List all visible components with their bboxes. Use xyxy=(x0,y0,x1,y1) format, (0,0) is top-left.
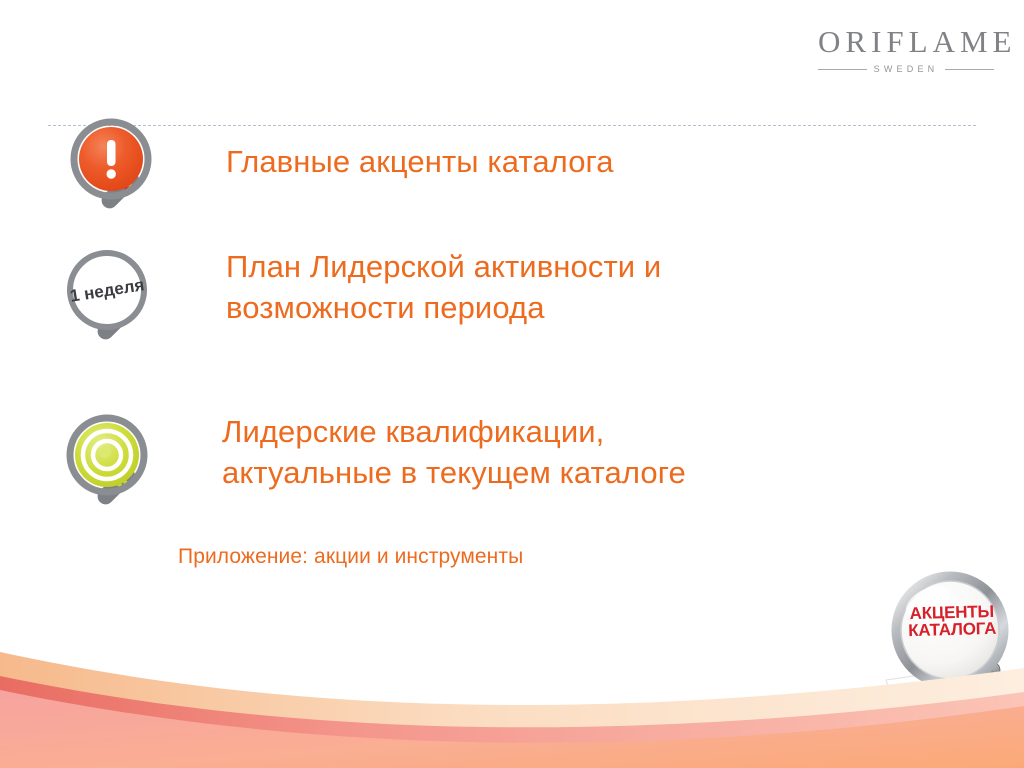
magnifier-target-icon xyxy=(58,408,170,520)
agenda-item-appendix-label: Приложение: акции и инструменты xyxy=(178,543,523,571)
agenda-item-highlights-label: Главные акценты каталога xyxy=(226,142,614,183)
slide-canvas: ORIFLAME SWEDEN xyxy=(0,0,1024,768)
logo-rule-left xyxy=(818,69,867,70)
agenda-item-leader-plan[interactable]: 1 неделя План Лидерской активности и воз… xyxy=(58,243,661,355)
agenda-item-leader-plan-label: План Лидерской активности и возможности … xyxy=(226,247,661,329)
logo-rule-right xyxy=(945,69,994,70)
magnifier-exclamation-icon xyxy=(62,112,174,224)
catalogue-highlights-stamp: АКЦЕНТЫ КАТАЛОГА xyxy=(884,568,1024,708)
logo-subline: SWEDEN xyxy=(818,64,994,74)
logo-country-label: SWEDEN xyxy=(874,64,939,74)
agenda-item-highlights[interactable]: Главные акценты каталога xyxy=(62,112,614,224)
divider-bottom-dashed xyxy=(100,705,948,706)
agenda-item-qualifications-label: Лидерские квалификации, актуальные в тек… xyxy=(222,412,686,494)
agenda-item-qualifications[interactable]: Лидерские квалификации, актуальные в тек… xyxy=(58,408,686,520)
magnifier-one-week-icon: 1 неделя xyxy=(58,243,170,355)
catalogue-highlights-stamp-label: АКЦЕНТЫ КАТАЛОГА xyxy=(900,603,1005,640)
bottom-wave-decoration xyxy=(0,628,1024,768)
agenda-item-appendix[interactable]: Приложение: акции и инструменты xyxy=(178,543,523,571)
logo-wordmark: ORIFLAME xyxy=(818,26,994,57)
oriflame-logo: ORIFLAME SWEDEN xyxy=(818,26,994,74)
